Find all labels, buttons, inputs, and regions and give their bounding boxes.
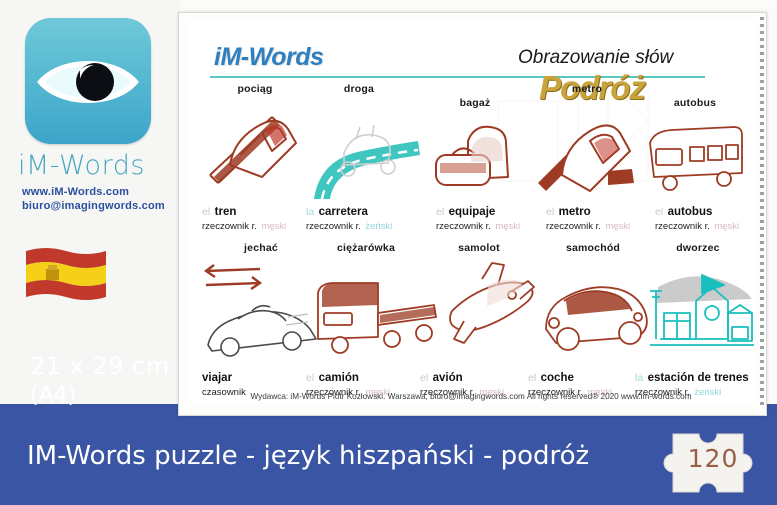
article: el xyxy=(436,206,444,218)
word-cell[interactable]: samochód xyxy=(534,242,652,254)
article: el xyxy=(306,372,314,384)
car-icon xyxy=(538,271,656,359)
gender: męski xyxy=(714,221,739,232)
part-of-speech: rzeczownik r. xyxy=(655,221,710,232)
article: el xyxy=(202,206,210,218)
gender: męski xyxy=(261,221,286,232)
article: la xyxy=(306,206,314,218)
word-cell[interactable]: jechać xyxy=(202,242,320,254)
piece-count-label: 120 xyxy=(683,444,743,473)
size-dimensions: 21 x 29 cm xyxy=(30,352,170,380)
word-cell[interactable]: dworzec xyxy=(644,242,752,254)
spanish-word: viajar xyxy=(202,372,232,384)
word-label[interactable]: el autobus rzeczownik r. męski xyxy=(655,205,739,233)
spanish-word: equipaje xyxy=(449,206,496,218)
gender: męski xyxy=(495,221,520,232)
word-cell[interactable]: bagaż xyxy=(416,97,534,109)
part-of-speech: rzeczownik r. xyxy=(436,221,491,232)
part-of-speech: rzeczownik r. xyxy=(306,221,361,232)
word-cell[interactable]: autobus xyxy=(640,97,750,109)
spanish-word: coche xyxy=(541,372,574,384)
polish-word: dworzec xyxy=(644,242,752,254)
article: el xyxy=(528,372,536,384)
article: el xyxy=(546,206,554,218)
polish-word: metro xyxy=(528,83,646,95)
word-cell[interactable]: samolot xyxy=(420,242,538,254)
article: la xyxy=(635,372,643,384)
part-of-speech: rzeczownik r. xyxy=(202,221,257,232)
gender: żeński xyxy=(365,221,392,232)
spanish-word: carretera xyxy=(319,206,368,218)
spanish-word: avión xyxy=(433,372,463,384)
road-icon xyxy=(296,109,426,201)
polish-word: samolot xyxy=(420,242,538,254)
word-cell[interactable]: pociąg xyxy=(196,83,314,95)
part-of-speech: rzeczownik r. xyxy=(546,221,601,232)
article: el xyxy=(420,372,428,384)
product-title: IM-Words puzzle - język hiszpański - pod… xyxy=(27,441,589,471)
word-cell[interactable]: droga xyxy=(300,83,418,95)
spanish-flag-icon xyxy=(22,243,110,303)
page-root: iM-Words www.iM-Words.com biuro@imagingw… xyxy=(0,0,777,505)
polish-word: bagaż xyxy=(416,97,534,109)
poster-brand: iM-Words xyxy=(214,43,323,72)
arrows-icon xyxy=(200,259,324,363)
eye-icon xyxy=(33,52,143,112)
spanish-word: metro xyxy=(559,206,591,218)
word-cell[interactable]: ciężarówka xyxy=(304,242,428,254)
article: el xyxy=(655,206,663,218)
word-label[interactable]: el equipaje rzeczownik r. męski xyxy=(436,205,520,233)
plane-icon xyxy=(428,259,544,355)
brand-website[interactable]: www.iM-Words.com xyxy=(22,186,129,198)
poster-inner: iM-Words Obrazowanie słów Podróż pociąg xyxy=(188,21,754,403)
gender: męski xyxy=(605,221,630,232)
polish-word: samochód xyxy=(534,242,652,254)
polish-word: jechać xyxy=(202,242,320,254)
perforation-edge xyxy=(760,17,764,407)
poster-footer: Wydawca: iM-Words Piotr Kozłowski. Warsz… xyxy=(188,392,754,401)
poster-card: iM-Words Obrazowanie słów Podróż pociąg xyxy=(178,12,767,416)
brand-wordmark: iM-Words xyxy=(18,150,168,181)
word-cell[interactable]: metro xyxy=(528,83,646,95)
size-format: (A4) xyxy=(30,383,76,408)
car-outline xyxy=(208,306,316,356)
luggage-icon xyxy=(428,121,538,197)
spanish-word: camión xyxy=(319,372,359,384)
im-words-logo-tile xyxy=(25,18,151,144)
word-label[interactable]: el tren rzeczownik r. męski xyxy=(202,205,286,233)
word-label[interactable]: el metro rzeczownik r. męski xyxy=(546,205,630,233)
word-label[interactable]: la carretera rzeczownik r. żeński xyxy=(306,205,392,233)
brand-email[interactable]: biuro@imagingwords.com xyxy=(22,200,165,212)
spanish-word: tren xyxy=(215,206,237,218)
polish-word: pociąg xyxy=(196,83,314,95)
polish-word: ciężarówka xyxy=(304,242,428,254)
polish-word: autobus xyxy=(640,97,750,109)
truck-icon xyxy=(310,269,442,361)
spanish-word: estación de trenes xyxy=(648,372,749,384)
station-icon xyxy=(640,261,758,361)
spanish-word: autobus xyxy=(668,206,713,218)
metro-icon xyxy=(534,113,652,199)
bus-icon xyxy=(644,121,752,197)
poster-tagline: Obrazowanie słów xyxy=(518,47,673,69)
polish-word: droga xyxy=(300,83,418,95)
